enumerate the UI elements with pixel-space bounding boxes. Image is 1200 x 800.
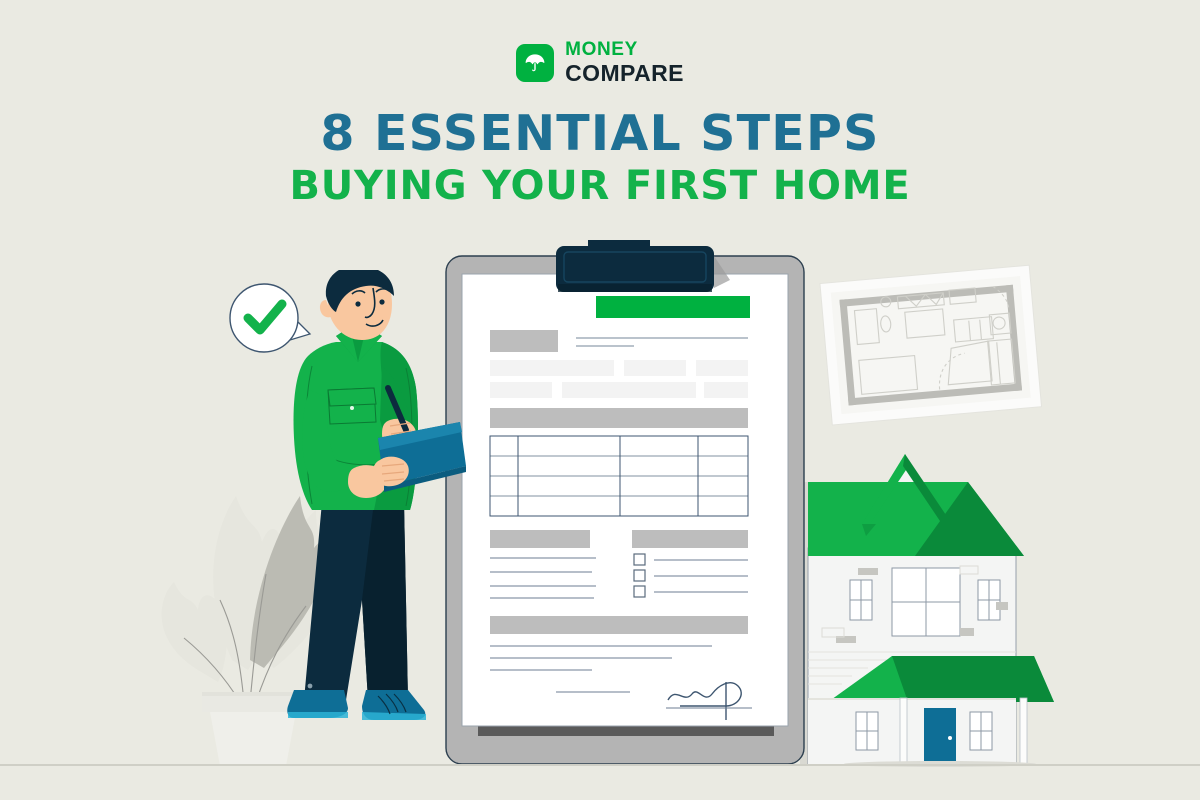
form-section-header <box>490 616 748 634</box>
form-label-block <box>490 330 558 352</box>
page-title: 8 ESSENTIAL STEPS <box>0 108 1200 160</box>
floor-plan-blueprint <box>812 258 1052 438</box>
page-subtitle: BUYING YOUR FIRST HOME <box>0 164 1200 208</box>
ground-line <box>0 764 1200 766</box>
headline-block: 8 ESSENTIAL STEPS BUYING YOUR FIRST HOME <box>0 108 1200 208</box>
brand-wordmark: MONEY COMPARE <box>565 40 684 85</box>
umbrella-icon <box>516 44 554 82</box>
form-label-block <box>632 530 748 548</box>
brand-logo[interactable]: MONEY COMPARE <box>0 40 1200 85</box>
speech-bubble-check <box>222 278 312 360</box>
form-accent-bar <box>596 296 750 318</box>
house-illustration <box>800 440 1070 770</box>
form-label-block <box>490 530 590 548</box>
form-section-header <box>490 408 748 428</box>
poster-canvas: MONEY COMPARE 8 ESSENTIAL STEPS BUYING Y… <box>0 0 1200 800</box>
brand-line-compare: COMPARE <box>565 62 684 85</box>
brand-line-money: MONEY <box>565 40 684 59</box>
